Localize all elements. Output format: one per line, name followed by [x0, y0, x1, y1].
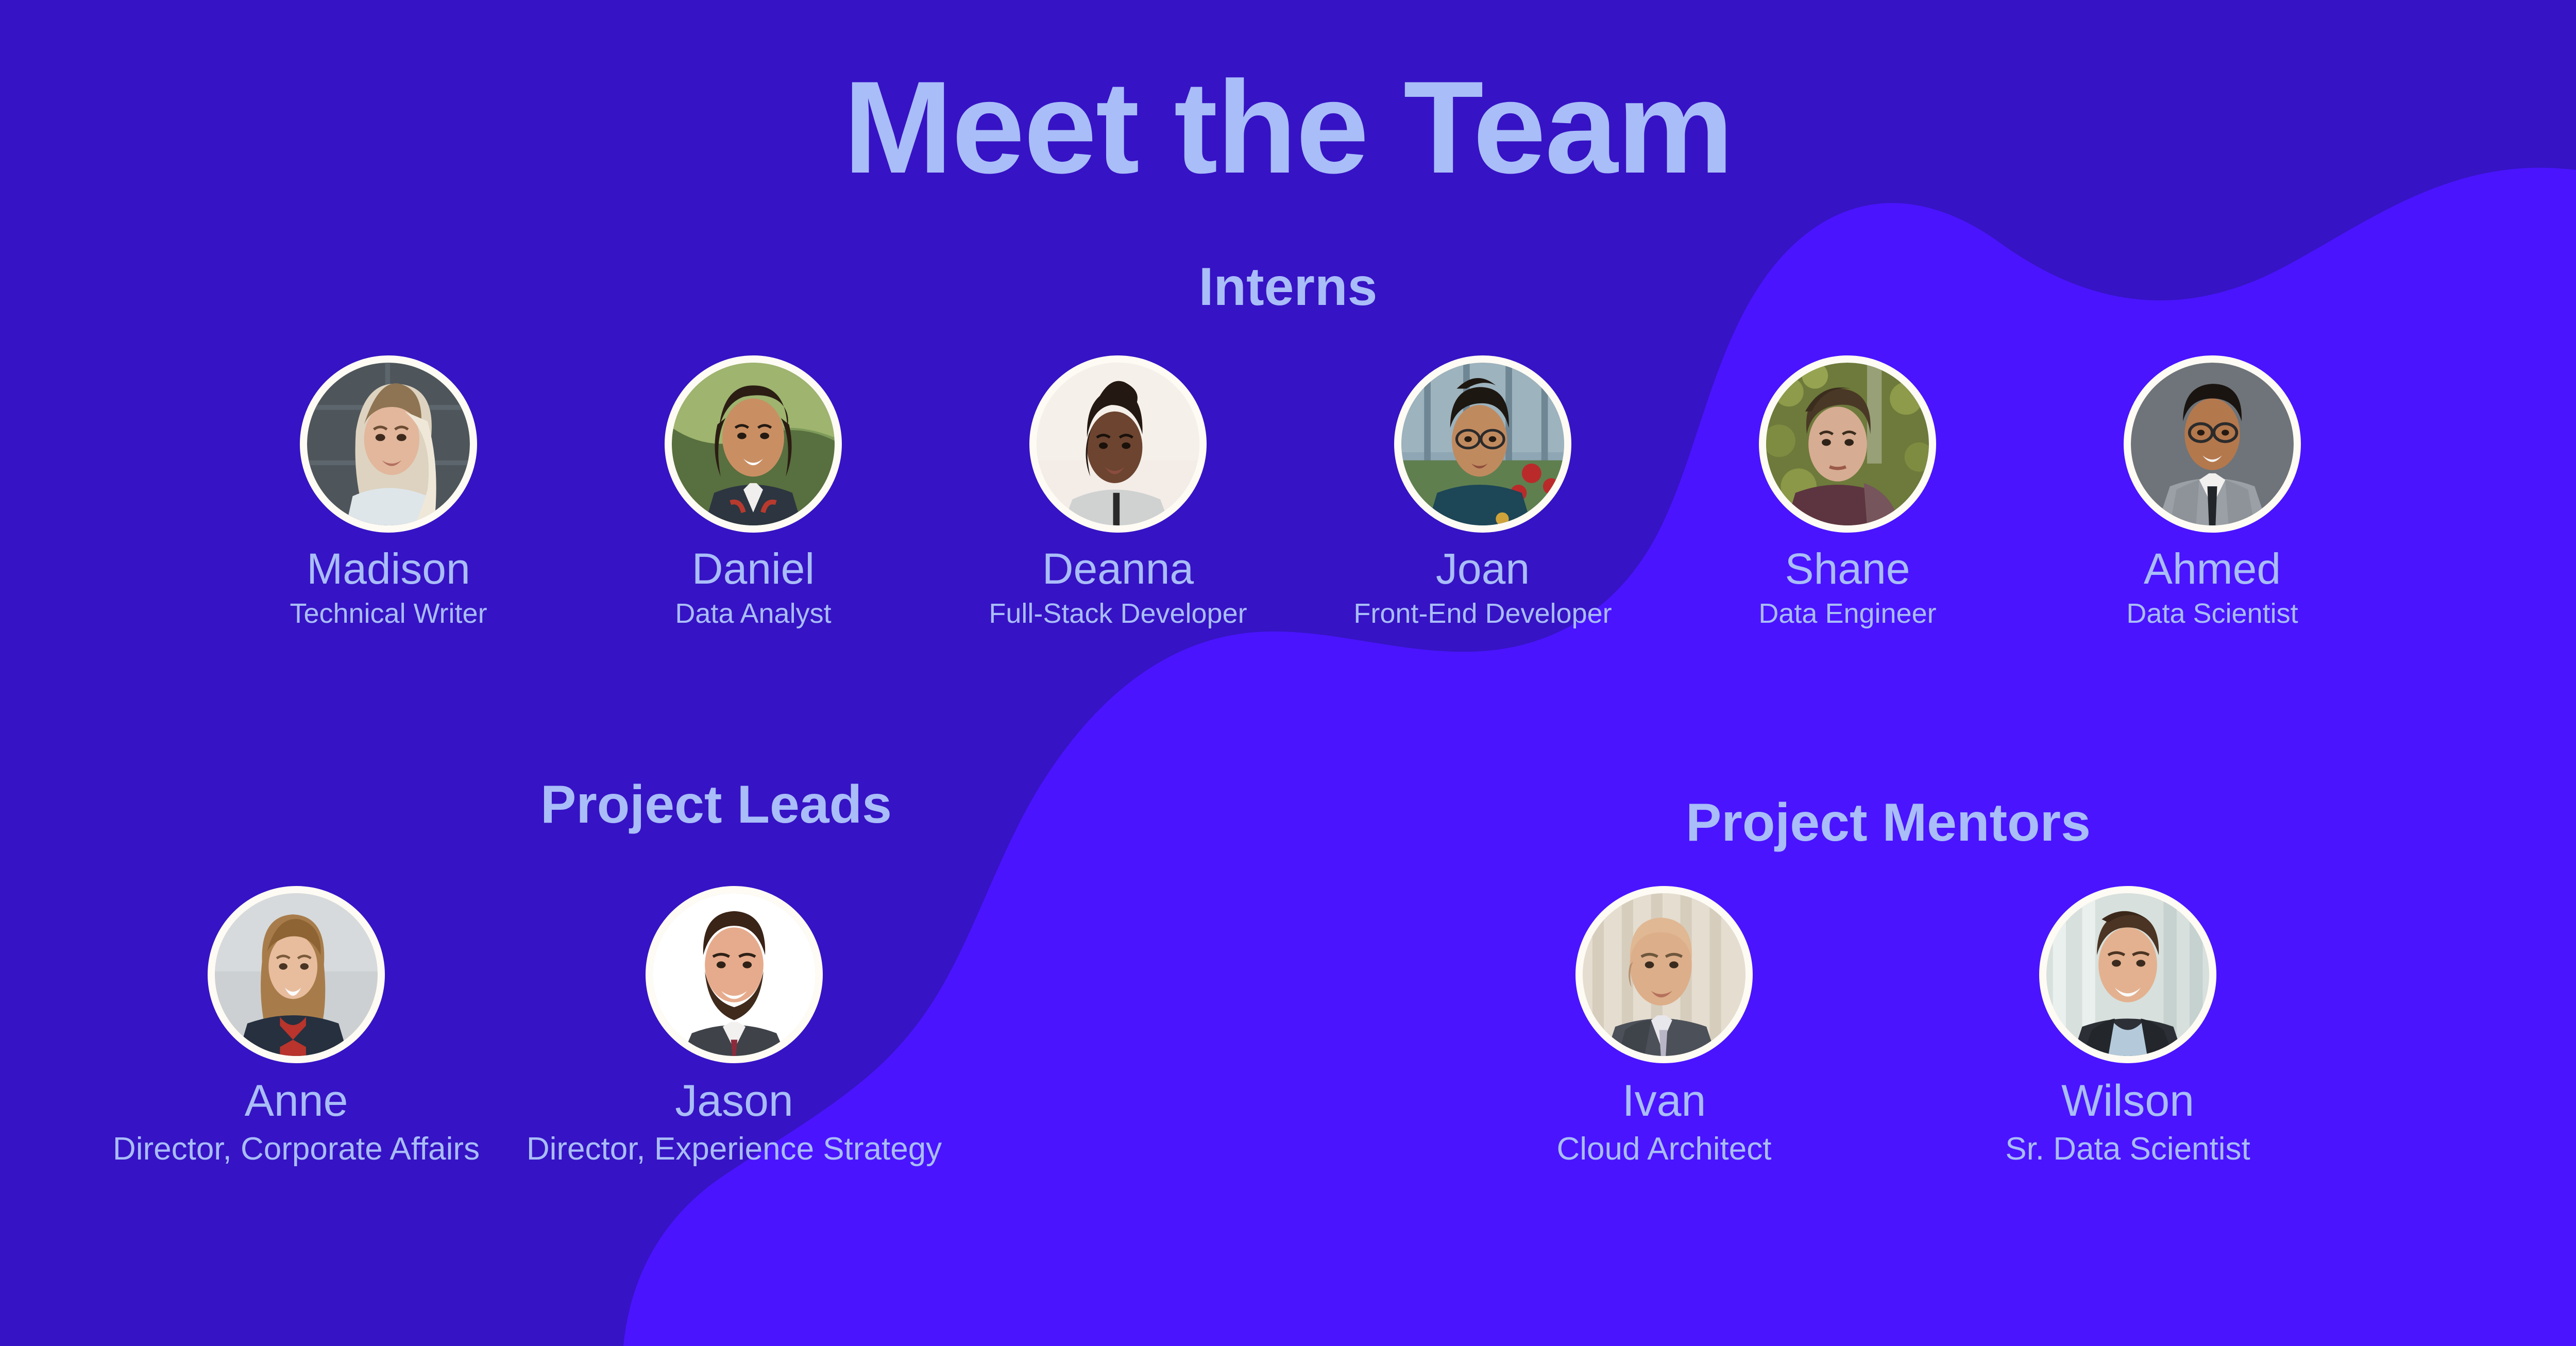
member-role: Front-End Developer [1353, 600, 1612, 627]
portrait-jason [653, 893, 816, 1056]
meet-the-team-poster: Meet the Team Interns [0, 0, 2576, 1346]
member-name: Daniel [692, 547, 815, 590]
member-role: Data Scientist [2126, 600, 2298, 627]
member-name: Deanna [1042, 547, 1194, 590]
team-member-card[interactable]: Anne Director, Corporate Affairs [77, 886, 515, 1165]
avatar [1394, 355, 1571, 533]
team-member-card[interactable]: Ahmed Data Scientist [2030, 355, 2395, 627]
portrait-anne [215, 893, 378, 1056]
section-heading-project-leads: Project Leads [459, 778, 974, 831]
member-role: Technical Writer [290, 600, 487, 627]
portrait-ahmed [2131, 363, 2294, 525]
portrait-wilson [2046, 893, 2209, 1056]
member-name: Joan [1436, 547, 1530, 590]
member-name: Wilson [2061, 1079, 2194, 1123]
team-member-card[interactable]: Ivan Cloud Architect [1432, 886, 1896, 1165]
avatar [646, 886, 823, 1063]
avatar [665, 355, 842, 533]
member-role: Full-Stack Developer [989, 600, 1247, 627]
portrait-madison [307, 363, 470, 525]
section-heading-project-mentors: Project Mentors [1618, 796, 2159, 849]
member-role: Data Engineer [1758, 600, 1936, 627]
member-role: Director, Corporate Affairs [113, 1133, 480, 1165]
team-member-card[interactable]: Jason Director, Experience Strategy [515, 886, 953, 1165]
avatar [300, 355, 477, 533]
team-member-card[interactable]: Joan Front-End Developer [1300, 355, 1665, 627]
member-name: Jason [675, 1079, 793, 1123]
section-heading-interns: Interns [0, 260, 2576, 314]
portrait-ivan [1583, 893, 1745, 1056]
avatar [2124, 355, 2301, 533]
portrait-joan [1401, 363, 1564, 525]
portrait-daniel [672, 363, 835, 525]
member-role: Data Analyst [675, 600, 831, 627]
avatar [1029, 355, 1207, 533]
team-member-card[interactable]: Daniel Data Analyst [571, 355, 936, 627]
member-role: Director, Experience Strategy [527, 1133, 942, 1165]
member-name: Anne [245, 1079, 348, 1123]
avatar [208, 886, 385, 1063]
team-member-card[interactable]: Shane Data Engineer [1665, 355, 2030, 627]
team-member-card[interactable]: Deanna Full-Stack Developer [936, 355, 1300, 627]
member-name: Madison [307, 547, 470, 590]
project-leads-member-row: Anne Director, Corporate Affairs [77, 886, 953, 1165]
avatar [2039, 886, 2216, 1063]
portrait-shane [1766, 363, 1929, 525]
avatar [1759, 355, 1936, 533]
member-name: Shane [1785, 547, 1910, 590]
team-member-card[interactable]: Madison Technical Writer [206, 355, 571, 627]
portrait-deanna [1037, 363, 1199, 525]
avatar [1575, 886, 1753, 1063]
project-mentors-member-row: Ivan Cloud Architect [1432, 886, 2360, 1165]
page-title: Meet the Team [0, 62, 2576, 193]
team-member-card[interactable]: Wilson Sr. Data Scientist [1896, 886, 2360, 1165]
member-name: Ahmed [2144, 547, 2281, 590]
member-role: Sr. Data Scientist [2005, 1133, 2250, 1165]
interns-member-row: Madison Technical Writer [206, 355, 2396, 627]
member-role: Cloud Architect [1557, 1133, 1772, 1165]
member-name: Ivan [1622, 1079, 1706, 1123]
